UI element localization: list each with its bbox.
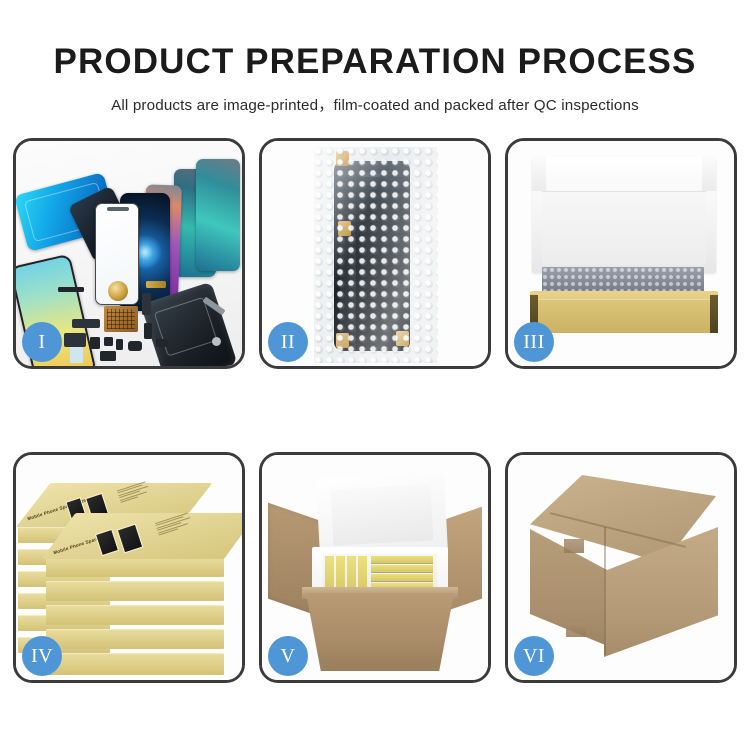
- page-title: PRODUCT PREPARATION PROCESS: [0, 0, 750, 81]
- speaker-coil-icon: [108, 281, 128, 301]
- process-step-5: V: [259, 452, 491, 683]
- part-bit-2: [72, 319, 100, 328]
- process-step-6: VI: [505, 452, 737, 683]
- box-lid: [532, 157, 716, 273]
- lid-inner-face: [542, 191, 706, 265]
- part-bit-4: [90, 337, 100, 349]
- step-badge-4: IV: [22, 636, 62, 676]
- tray-front-face: [530, 299, 718, 333]
- process-step-2: II: [259, 138, 491, 369]
- step-badge-2: II: [268, 322, 308, 362]
- product-preparation-page: PRODUCT PREPARATION PROCESS All products…: [0, 0, 750, 750]
- step-badge-1: I: [22, 322, 62, 362]
- process-step-grid: I II: [13, 138, 737, 683]
- part-bit-5: [104, 337, 113, 346]
- lid-tab-left: [532, 157, 546, 191]
- plastic-sheen: [314, 147, 438, 363]
- carton-tape-upper: [564, 539, 584, 553]
- part-bit-12: [70, 347, 83, 363]
- inner-yellow-box-5: [371, 556, 433, 563]
- carton-vertical-edge: [604, 527, 606, 655]
- page-subtitle: All products are image-printed，film-coat…: [0, 81, 750, 115]
- carton-front-face: [306, 593, 454, 671]
- stack-box-front-3: [46, 605, 224, 625]
- part-bit-10: [144, 323, 152, 339]
- logic-board-icon: [104, 306, 138, 332]
- page-header: PRODUCT PREPARATION PROCESS All products…: [0, 0, 750, 115]
- step-badge-3: III: [514, 322, 554, 362]
- part-bit-8: [146, 281, 166, 288]
- carton-tape-lower: [566, 623, 586, 637]
- part-bit-11: [156, 339, 168, 347]
- bubble-wrap-bag: [314, 147, 438, 363]
- part-bit-6: [116, 339, 123, 350]
- step-badge-5: V: [268, 636, 308, 676]
- stack-box-front-2: [46, 581, 224, 601]
- part-bit-13: [100, 351, 116, 361]
- stack-box-front-5: [46, 653, 224, 675]
- tray-side-right: [710, 295, 718, 333]
- process-step-1: I: [13, 138, 245, 369]
- lid-tab-right: [702, 157, 716, 191]
- teal-phone-2-icon: [196, 159, 240, 271]
- process-step-3: III: [505, 138, 737, 369]
- part-bit-7: [128, 341, 142, 351]
- part-bit-9: [142, 293, 151, 315]
- part-bit-3: [64, 333, 86, 347]
- part-bit-14: [212, 337, 221, 346]
- foam-lid-inner: [331, 484, 434, 545]
- step-badge-6: VI: [514, 636, 554, 676]
- part-bit-1: [58, 287, 84, 292]
- process-step-4: Mobile Phone Spare Parts: [13, 452, 245, 683]
- stack-box-front-1: [46, 557, 224, 577]
- inner-yellow-box-7: [371, 574, 433, 581]
- stack-box-front-4: [46, 629, 224, 649]
- kraft-box-tray: [530, 291, 718, 333]
- inner-yellow-box-6: [371, 565, 433, 572]
